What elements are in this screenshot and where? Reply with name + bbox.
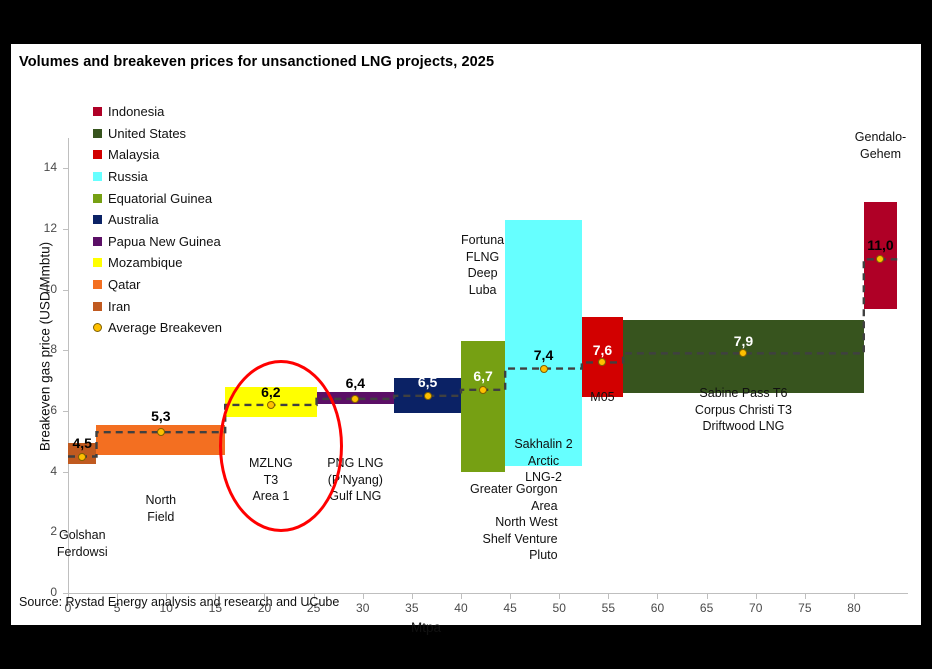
- x-axis-label: Mtpa: [411, 620, 441, 635]
- legend-dot-icon: [93, 323, 102, 332]
- average-breakeven-dot[interactable]: [78, 453, 86, 461]
- average-breakeven-dot[interactable]: [479, 386, 487, 394]
- legend-swatch-icon: [93, 150, 102, 159]
- chart-card: Volumes and breakeven prices for unsanct…: [11, 44, 921, 625]
- average-breakeven-dot[interactable]: [157, 428, 165, 436]
- legend-item-label: Iran: [108, 299, 130, 314]
- legend-item-label: Malaysia: [108, 147, 159, 162]
- legend-item-united-states[interactable]: United States: [93, 123, 222, 145]
- legend-item-indonesia[interactable]: Indonesia: [93, 101, 222, 123]
- legend-swatch-icon: [93, 107, 102, 116]
- legend-swatch-icon: [93, 215, 102, 224]
- legend-swatch-icon: [93, 172, 102, 181]
- legend-item-iran[interactable]: Iran: [93, 295, 222, 317]
- legend-swatch-icon: [93, 280, 102, 289]
- source-note: Source: Rystad Energy analysis and resea…: [19, 595, 339, 609]
- legend-item-label: Indonesia: [108, 104, 164, 119]
- legend-item-label: Mozambique: [108, 255, 182, 270]
- legend-swatch-icon: [93, 302, 102, 311]
- legend-item-average-breakeven[interactable]: Average Breakeven: [93, 317, 222, 339]
- legend-item-qatar[interactable]: Qatar: [93, 274, 222, 296]
- legend-item-label: Average Breakeven: [108, 320, 222, 335]
- legend-item-label: Qatar: [108, 277, 141, 292]
- legend-item-label: United States: [108, 126, 186, 141]
- legend-item-label: Equatorial Guinea: [108, 191, 212, 206]
- legend-swatch-icon: [93, 237, 102, 246]
- y-axis-label: Breakeven gas price (USD/Mmbtu): [38, 137, 53, 557]
- legend-swatch-icon: [93, 258, 102, 267]
- legend-item-papua-new-guinea[interactable]: Papua New Guinea: [93, 231, 222, 253]
- legend-item-australia[interactable]: Australia: [93, 209, 222, 231]
- legend-swatch-icon: [93, 129, 102, 138]
- legend-item-label: Papua New Guinea: [108, 234, 221, 249]
- average-breakeven-dot[interactable]: [424, 392, 432, 400]
- legend-item-mozambique[interactable]: Mozambique: [93, 252, 222, 274]
- average-breakeven-dot[interactable]: [540, 365, 548, 373]
- highlight-ellipse-annotation: [219, 360, 343, 532]
- legend-item-russia[interactable]: Russia: [93, 166, 222, 188]
- legend: IndonesiaUnited StatesMalaysiaRussiaEqua…: [93, 101, 222, 339]
- legend-item-label: Russia: [108, 169, 148, 184]
- legend-swatch-icon: [93, 194, 102, 203]
- legend-item-equatorial-guinea[interactable]: Equatorial Guinea: [93, 187, 222, 209]
- legend-item-label: Australia: [108, 212, 159, 227]
- legend-item-malaysia[interactable]: Malaysia: [93, 144, 222, 166]
